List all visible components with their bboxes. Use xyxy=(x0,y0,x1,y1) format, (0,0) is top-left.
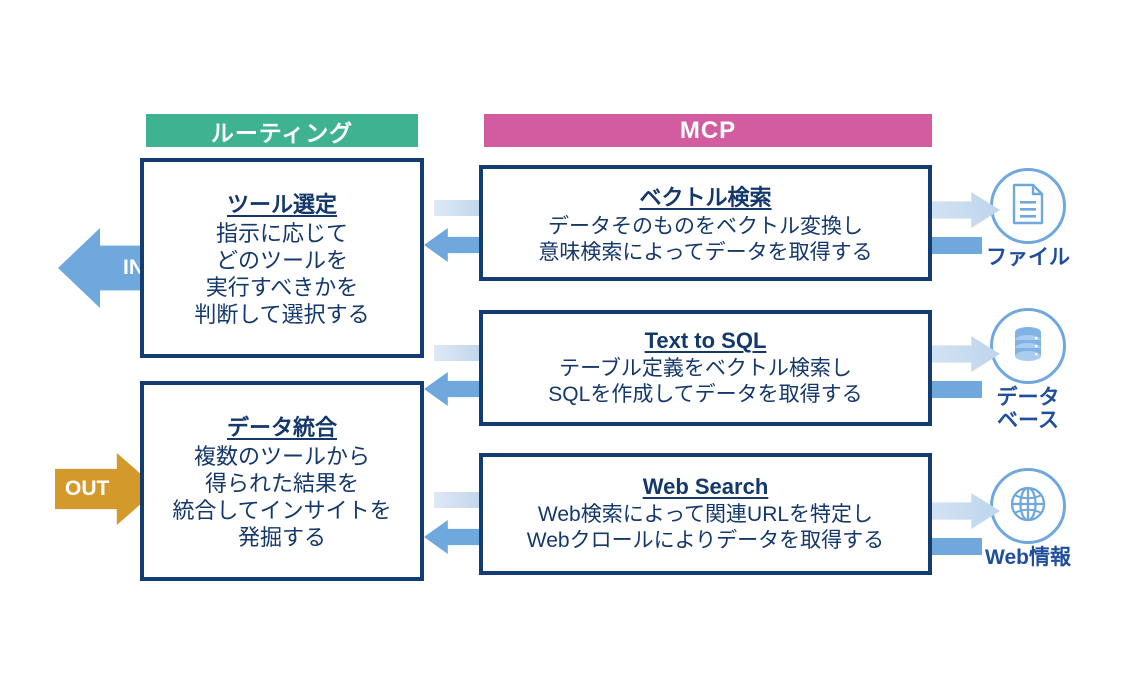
data-source-database-label: データ ベース xyxy=(997,387,1060,432)
column-header-mcp: MCP xyxy=(484,114,932,147)
column-header-routing: ルーティング xyxy=(146,114,418,147)
mcp-box-text-to-sql: Text to SQL テーブル定義をベクトル検索し SQLを作成してデータを取… xyxy=(479,310,932,426)
mcp-box-vector-search-body: データそのものをベクトル変換し 意味検索によってデータを取得する xyxy=(538,214,872,265)
data-source-web-label: Web情報 xyxy=(985,547,1071,570)
data-source-web-circle xyxy=(990,468,1066,544)
routing-box-data-integration-body: 複数のツールから 得られた結果を 統合してインサイトを 発掘する xyxy=(172,444,391,551)
database-icon xyxy=(1007,323,1049,370)
globe-icon xyxy=(1007,483,1049,530)
connector-stub-database xyxy=(928,381,982,398)
routing-box-data-integration-title: データ統合 xyxy=(227,410,337,442)
connector-stub-web xyxy=(928,538,982,555)
routing-box-data-integration: データ統合 複数のツールから 得られた結果を 統合してインサイトを 発掘する xyxy=(140,381,424,581)
mcp-box-web-search: Web Search Web検索によって関連URLを特定し Webクロールにより… xyxy=(479,453,932,575)
mcp-box-web-search-body: Web検索によって関連URLを特定し Webクロールによりデータを取得する xyxy=(527,502,884,553)
routing-box-tool-selection: ツール選定 指示に応じて どのツールを 実行すべきかを 判断して選択する xyxy=(140,158,424,358)
mcp-box-text-to-sql-title: Text to SQL xyxy=(645,328,767,354)
data-source-file-circle xyxy=(990,168,1066,244)
data-source-database: データ ベース xyxy=(968,308,1088,432)
routing-box-tool-selection-body: 指示に応じて どのツールを 実行すべきかを 判断して選択する xyxy=(194,221,369,328)
connector-stub-file xyxy=(928,237,982,254)
mcp-box-vector-search: ベクトル検索 データそのものをベクトル変換し 意味検索によってデータを取得する xyxy=(479,165,932,281)
mcp-box-web-search-title: Web Search xyxy=(643,474,769,500)
data-source-file-label: ファイル xyxy=(986,247,1070,270)
out-arrow-label: OUT xyxy=(65,477,109,501)
routing-box-tool-selection-title: ツール選定 xyxy=(227,187,337,219)
data-source-database-circle xyxy=(990,308,1066,384)
data-source-file: ファイル xyxy=(968,168,1088,270)
document-icon xyxy=(1009,183,1047,230)
column-header-routing-label: ルーティング xyxy=(211,114,353,148)
column-header-mcp-label: MCP xyxy=(680,117,736,145)
mcp-box-vector-search-title: ベクトル検索 xyxy=(639,180,771,212)
mcp-box-text-to-sql-body: テーブル定義をベクトル検索し SQLを作成してデータを取得する xyxy=(548,356,862,407)
diagram-canvas: ルーティング MCP IN OUT ツール選定 指示に応じて どのツールを 実行… xyxy=(0,0,1144,700)
